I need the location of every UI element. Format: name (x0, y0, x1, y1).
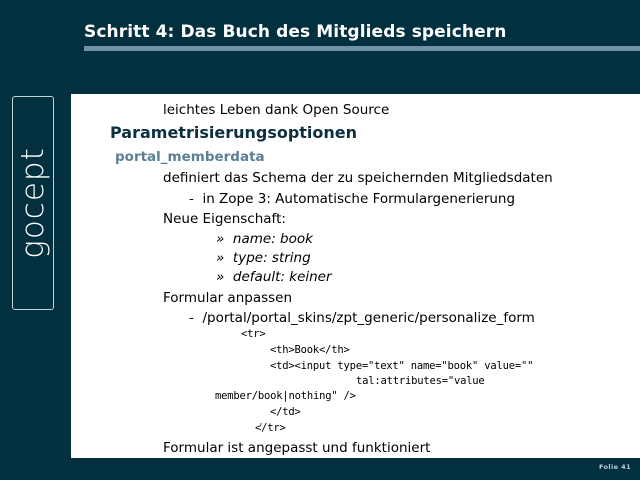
content-line: » type: string (216, 250, 311, 266)
slide-footer: Folie 41 (0, 458, 640, 480)
title-underline-rule (84, 46, 640, 51)
code-block-bullet-icon (260, 423, 262, 425)
content-line: Formular anpassen (163, 290, 292, 306)
content-line: Formular ist angepasst und funktioniert (163, 440, 430, 456)
content-line: Parametrisierungsoptionen (110, 123, 357, 142)
content-line: <tr> (241, 328, 266, 340)
slide-header: Schritt 4: Das Buch des Mitglieds speich… (0, 0, 640, 54)
content-line: <th>Book</th> (270, 344, 350, 356)
slide-root: Schritt 4: Das Buch des Mitglieds speich… (0, 0, 640, 480)
content-line: tal:attributes="value (356, 375, 485, 387)
content-line: Neue Eigenschaft: (163, 211, 286, 227)
content-line: portal_memberdata (115, 149, 265, 165)
content-line: - in Zope 3: Automatische Formulargeneri… (189, 191, 515, 207)
slide-number-label: Folie 41 (599, 463, 631, 471)
content-line: </td> (270, 406, 301, 418)
content-line: - /portal/portal_skins/zpt_generic/perso… (189, 310, 535, 326)
gocept-logo-label: gocept (13, 97, 53, 309)
content-line: definiert das Schema der zu speichernden… (163, 170, 553, 186)
content-line: » name: book (216, 231, 313, 247)
content-line: » default: keiner (216, 269, 332, 285)
page-title: Schritt 4: Das Buch des Mitglieds speich… (84, 22, 506, 42)
content-line: member/book|nothing" /> (215, 390, 356, 402)
content-line: <td><input type="text" name="book" value… (270, 360, 533, 372)
content-panel: leichtes Leben dank Open SourceParametri… (71, 94, 640, 458)
content-line: leichtes Leben dank Open Source (163, 102, 389, 118)
gocept-logo: gocept (12, 96, 54, 310)
